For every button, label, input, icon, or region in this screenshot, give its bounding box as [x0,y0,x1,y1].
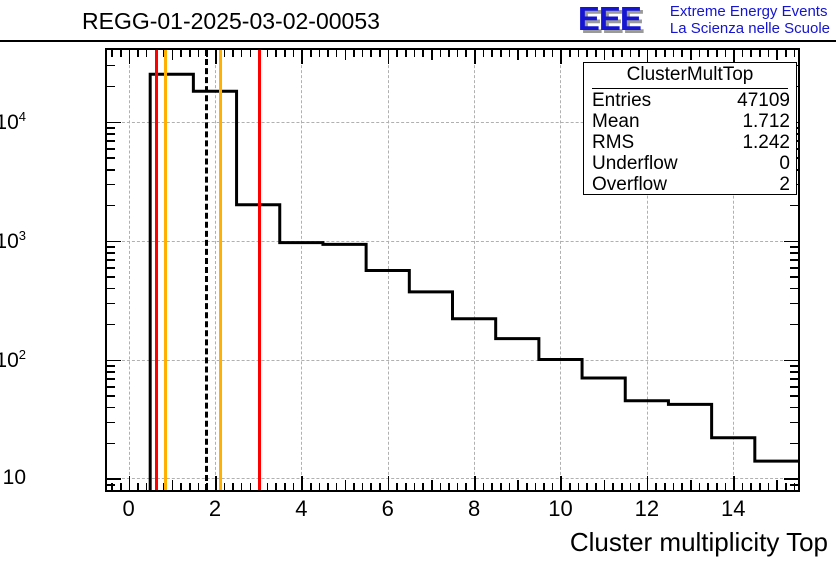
stats-row-value: 2 [779,174,790,195]
y-axis-label: 103 [0,228,26,254]
root-canvas: REGG-01-2025-03-02-00053 EEE EEE Extreme… [0,0,836,572]
x-axis-label: 4 [295,496,307,522]
stats-row-value: 1.242 [742,132,790,153]
stats-row: Mean1.712 [592,111,790,132]
stats-rows: Entries47109Mean1.712RMS1.242Underflow0O… [584,89,796,195]
stats-row-value: 1.712 [742,111,790,132]
eee-logo-line2: La Scienza nelle Scuole [670,20,830,37]
stats-row-value: 0 [779,153,790,174]
stats-row-label: Underflow [592,153,678,174]
y-axis-label: 102 [0,347,26,373]
stats-row-label: RMS [592,132,634,153]
x-axis-label: 2 [209,496,221,522]
eee-logo: EEE EEE Extreme Energy Events La Scienza… [578,2,830,37]
eee-logo-text: Extreme Energy Events La Scienza nelle S… [670,2,830,37]
orange-upper-cut-marker [219,50,222,490]
stats-row-value: 47109 [737,90,790,111]
x-axis-label: 0 [122,496,134,522]
x-axis-title: Cluster multiplicity Top [570,527,828,558]
stats-title: ClusterMultTop [592,63,788,89]
x-axis-label: 8 [468,496,480,522]
x-axis-label: 14 [721,496,745,522]
y-axis-label: 10 [3,466,26,490]
orange-lower-cut-marker [164,50,167,490]
eee-logo-line1: Extreme Energy Events [670,3,830,20]
page-title: REGG-01-2025-03-02-00053 [82,8,380,35]
mean-dashed-line-marker [205,50,208,490]
stats-row: RMS1.242 [592,132,790,153]
red-lower-cut-marker [155,50,158,490]
eee-logo-mark: EEE EEE [578,2,664,36]
x-axis-label: 6 [382,496,394,522]
y-axis-label: 104 [0,109,26,135]
x-axis-label: 12 [635,496,659,522]
stats-row: Underflow0 [592,153,790,174]
stats-box: ClusterMultTop Entries47109Mean1.712RMS1… [583,62,797,195]
eee-logo-mark-front: EEE [578,2,641,35]
x-axis-label: 10 [548,496,572,522]
red-upper-cut-marker [258,50,261,490]
stats-row: Entries47109 [592,90,790,111]
stats-row-label: Mean [592,111,640,132]
stats-row: Overflow2 [592,174,790,195]
header-divider [0,40,836,42]
stats-row-label: Entries [592,90,651,111]
stats-row-label: Overflow [592,174,667,195]
